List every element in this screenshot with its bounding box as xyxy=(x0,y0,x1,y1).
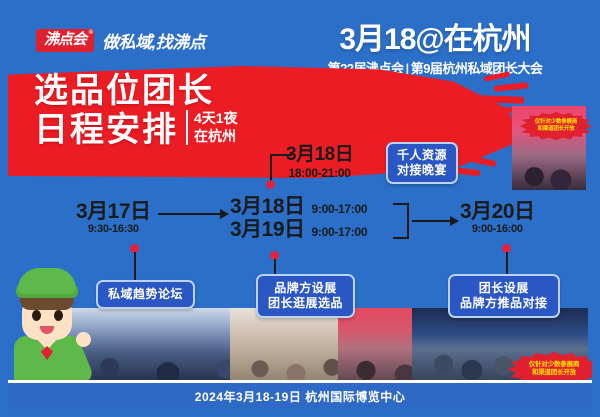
timeline-dot xyxy=(270,251,279,260)
brand-logo-text: 沸点会 xyxy=(44,31,86,48)
timeline-arrow-line xyxy=(158,213,222,215)
timeline-row-mar19: 3月19日 9:00-17:00 xyxy=(230,218,367,241)
mascot-eye-left xyxy=(32,310,41,321)
hero-headline: 选品位团长 日程安排 4天1夜 在杭州 xyxy=(34,72,394,149)
footer-text: 2024年3月18-19日 杭州国际博览中心 xyxy=(195,388,405,405)
timeline-bracket-bottom xyxy=(393,237,409,239)
timeline-date: 3月20日 xyxy=(460,200,535,223)
timeline-date: 3月19日 xyxy=(230,218,305,241)
poster-root: 沸点会 ® 做私域,找沸点 3月18@在杭州 第22届沸点会|第9届杭州私域团长… xyxy=(0,0,600,417)
event-subtitle-separator: | xyxy=(406,61,409,76)
mascot-hat xyxy=(18,268,76,294)
timeline-stem xyxy=(134,252,136,282)
event-date-title: 3月18@在杭州 xyxy=(294,24,576,56)
label-dinner[interactable]: 千人资源 对接晚宴 xyxy=(386,142,458,184)
hero-duration-line1: 4天1夜 xyxy=(194,110,238,128)
timeline-node-mar18-19: 3月18日 9:00-17:00 3月19日 9:00-17:00 xyxy=(230,195,367,241)
label-expo-line2: 团长逛展选品 xyxy=(268,296,343,311)
hero-headline-line1: 选品位团长 xyxy=(34,72,394,110)
registered-mark-icon: ® xyxy=(89,30,92,37)
timeline-arrow-line xyxy=(412,220,452,222)
timeline-arrow-head xyxy=(450,216,459,226)
label-matchmaking[interactable]: 团长设展 品牌方推品对接 xyxy=(448,274,560,318)
label-dinner-line2: 对接晚宴 xyxy=(397,163,447,178)
poster-card: 沸点会 ® 做私域,找沸点 3月18@在杭州 第22届沸点会|第9届杭州私域团长… xyxy=(8,8,592,409)
hero-headline-line2: 日程安排 xyxy=(34,111,178,149)
timeline-time: 9:00-17:00 xyxy=(312,225,368,239)
timeline-node-mar20: 3月20日 9:00-16:00 xyxy=(460,200,535,235)
timeline-time: 9:00-17:00 xyxy=(312,202,368,216)
timeline-date: 3月17日 xyxy=(76,200,151,223)
timeline-arrow-head xyxy=(220,209,229,219)
badge-restricted-line2: 和渠道团长开放 xyxy=(525,126,587,133)
hero-duration-tag: 4天1夜 在杭州 xyxy=(186,110,238,145)
mascot-usher xyxy=(10,266,92,398)
ribbon-splash xyxy=(494,82,528,92)
brand-slogan: 做私域,找沸点 xyxy=(102,28,205,53)
label-expo-line1: 品牌方设展 xyxy=(268,281,343,296)
timeline-dot xyxy=(130,244,139,253)
brand-logo-badge: 沸点会 ® xyxy=(36,29,94,51)
label-dinner-line1: 千人资源 xyxy=(397,148,447,163)
timeline-row-mar18: 3月18日 9:00-17:00 xyxy=(230,195,367,218)
event-subtitle-right: 第9届杭州私域团长大会 xyxy=(411,61,543,76)
timeline-bracket-top xyxy=(393,203,409,205)
timeline-bracket-vert xyxy=(407,203,409,239)
mascot-eye-right xyxy=(54,310,63,321)
timeline-time: 9:00-16:00 xyxy=(460,223,535,235)
timeline-node-mar17: 3月17日 9:30-16:30 xyxy=(76,200,151,235)
timeline-dot xyxy=(502,244,511,253)
timeline-dot xyxy=(266,180,275,189)
hero-duration-line2: 在杭州 xyxy=(194,128,238,146)
brand-header: 沸点会 ® 做私域,找沸点 xyxy=(36,28,205,53)
badge-restricted-top: 仅针对少数参展商 和渠道团长开放 xyxy=(520,112,592,140)
label-forum[interactable]: 私域趋势论坛 xyxy=(96,280,195,309)
label-matchmaking-line1: 团长设展 xyxy=(460,281,548,296)
timeline-time: 9:30-16:30 xyxy=(76,223,151,235)
mascot-hand xyxy=(76,332,91,347)
timeline-date: 3月18日 xyxy=(230,195,305,218)
badge-restricted-line2: 和渠道团长开放 xyxy=(514,369,592,377)
label-matchmaking-line2: 品牌方推品对接 xyxy=(460,296,548,311)
hero-headline-row2: 日程安排 4天1夜 在杭州 xyxy=(34,110,394,149)
label-forum-text: 私域趋势论坛 xyxy=(108,287,183,302)
footer-bar: 2024年3月18-19日 杭州国际博览中心 xyxy=(8,381,592,409)
label-expo[interactable]: 品牌方设展 团长逛展选品 xyxy=(256,274,355,318)
